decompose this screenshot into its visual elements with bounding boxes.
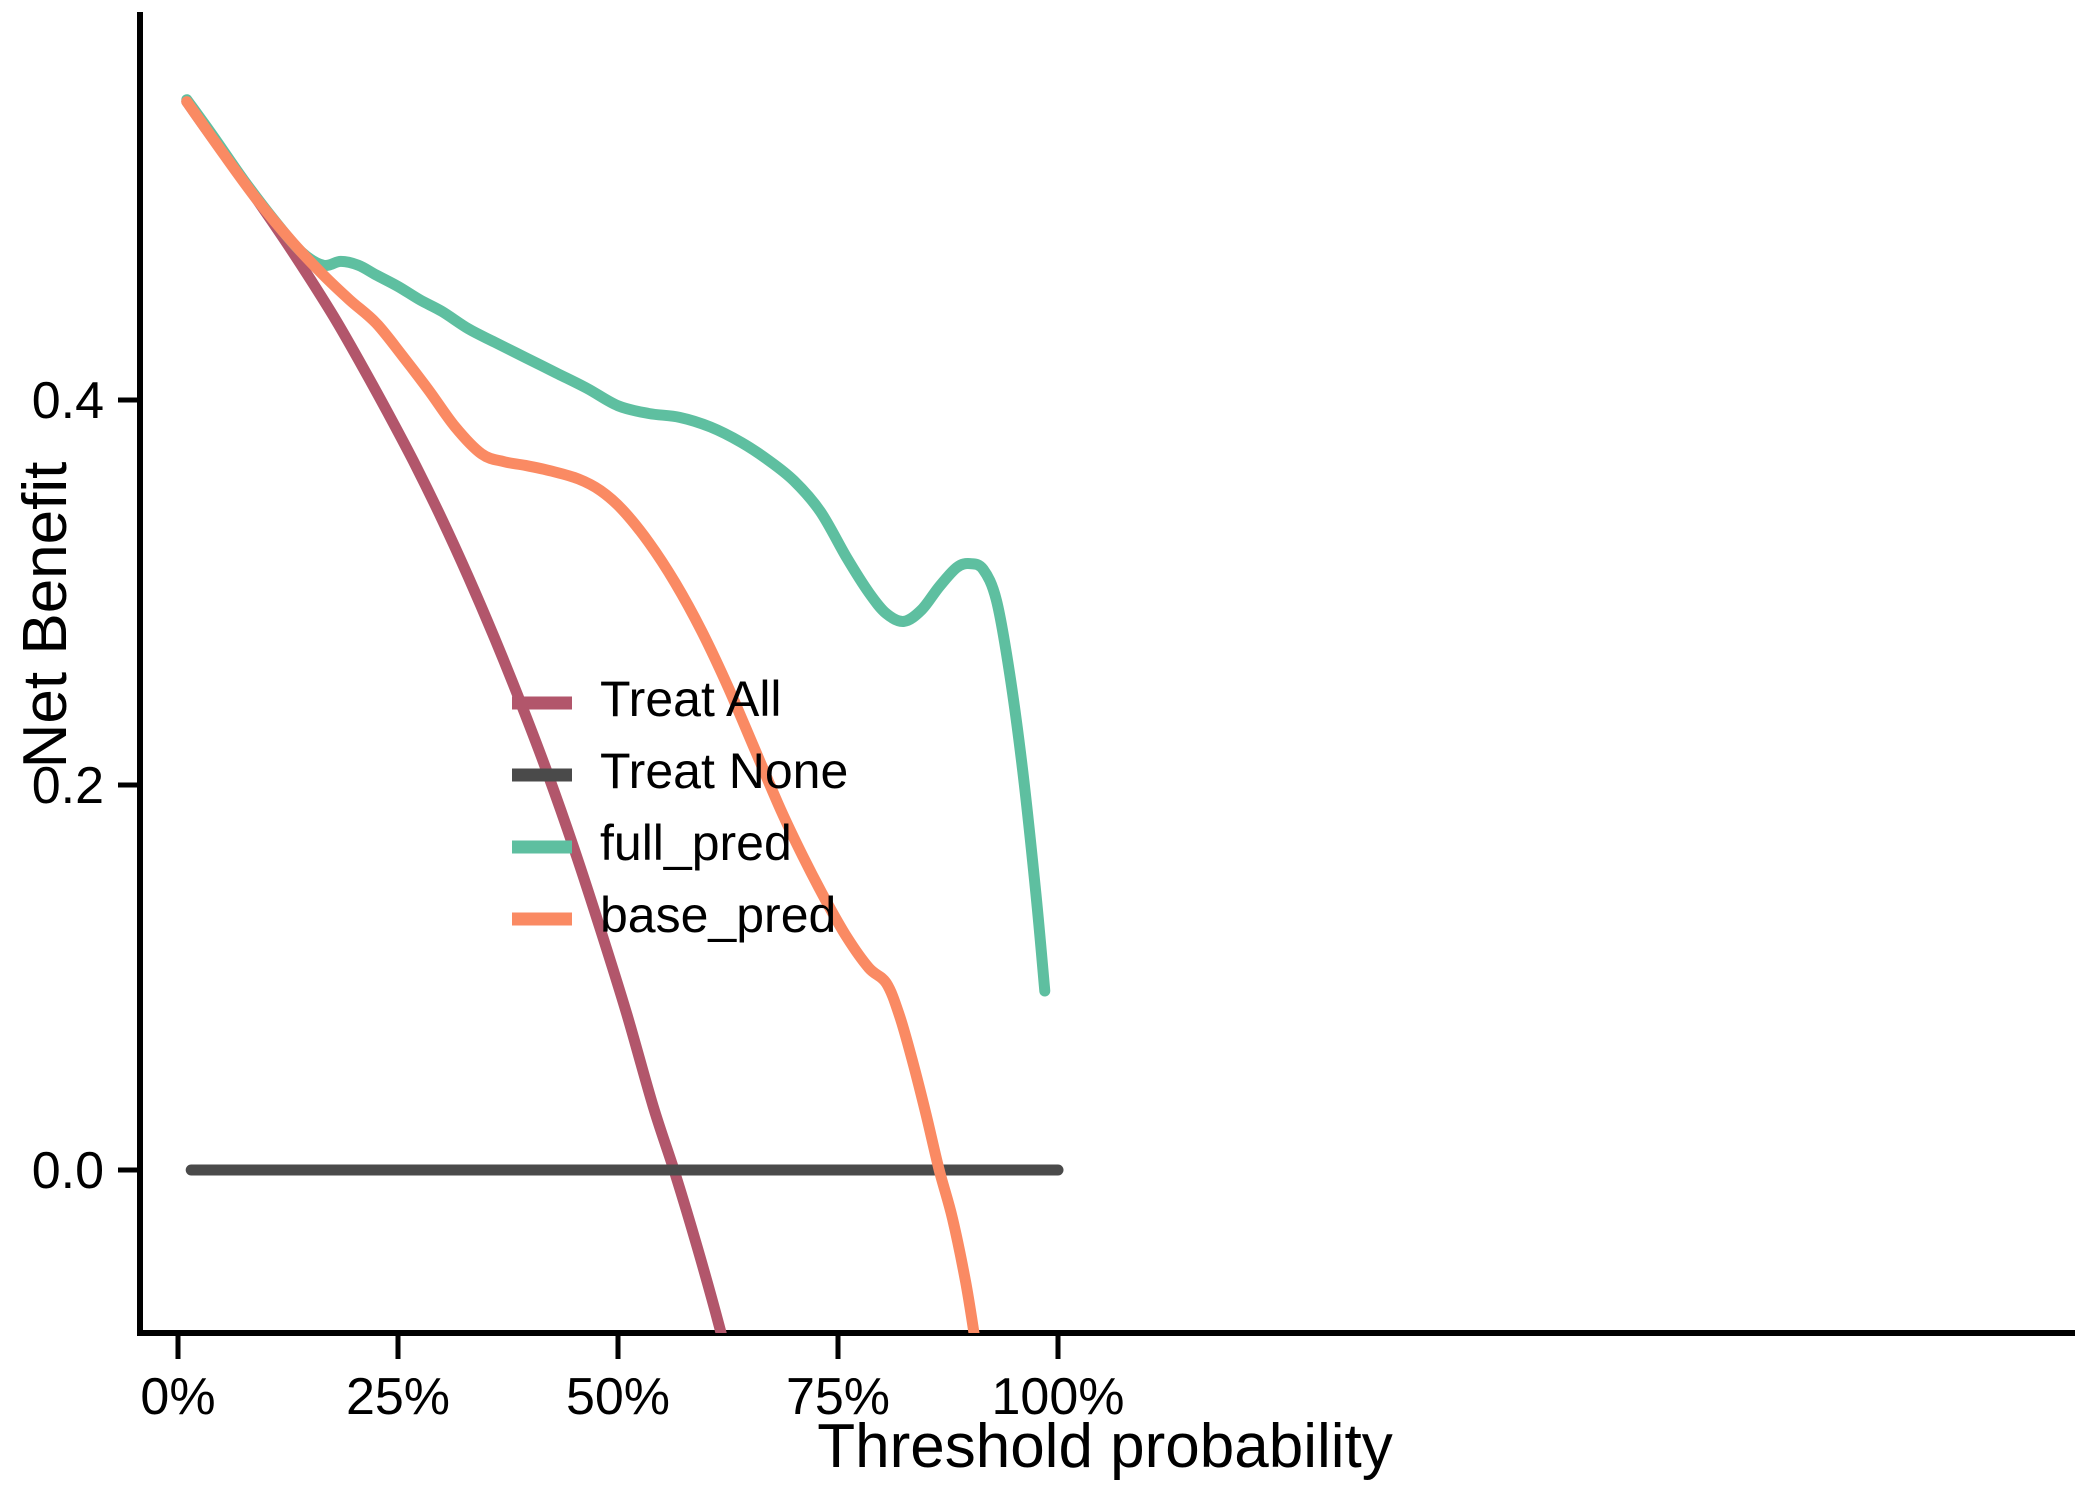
chart-canvas: 0.00.20.4 0%25%50%75%100% Treat AllTreat…: [0, 0, 2100, 1500]
y-tick-label: 0.4: [32, 372, 104, 430]
x-tick-label: 0%: [140, 1368, 215, 1426]
legend-label-treat-none: Treat None: [600, 743, 848, 799]
y-axis-title: Net Benefit: [11, 462, 80, 769]
legend-label-base-pred: base_pred: [600, 887, 836, 943]
x-tick-label: 25%: [346, 1368, 450, 1426]
legend-label-full-pred: full_pred: [600, 815, 792, 871]
y-tick-label: 0.0: [32, 1142, 104, 1200]
x-axis-title: Threshold probability: [817, 1412, 1393, 1481]
x-tick-label: 50%: [566, 1368, 670, 1426]
decision-curve-chart: 0.00.20.4 0%25%50%75%100% Treat AllTreat…: [0, 0, 2100, 1500]
chart-background: [0, 0, 2100, 1500]
legend-label-treat-all: Treat All: [600, 671, 782, 727]
